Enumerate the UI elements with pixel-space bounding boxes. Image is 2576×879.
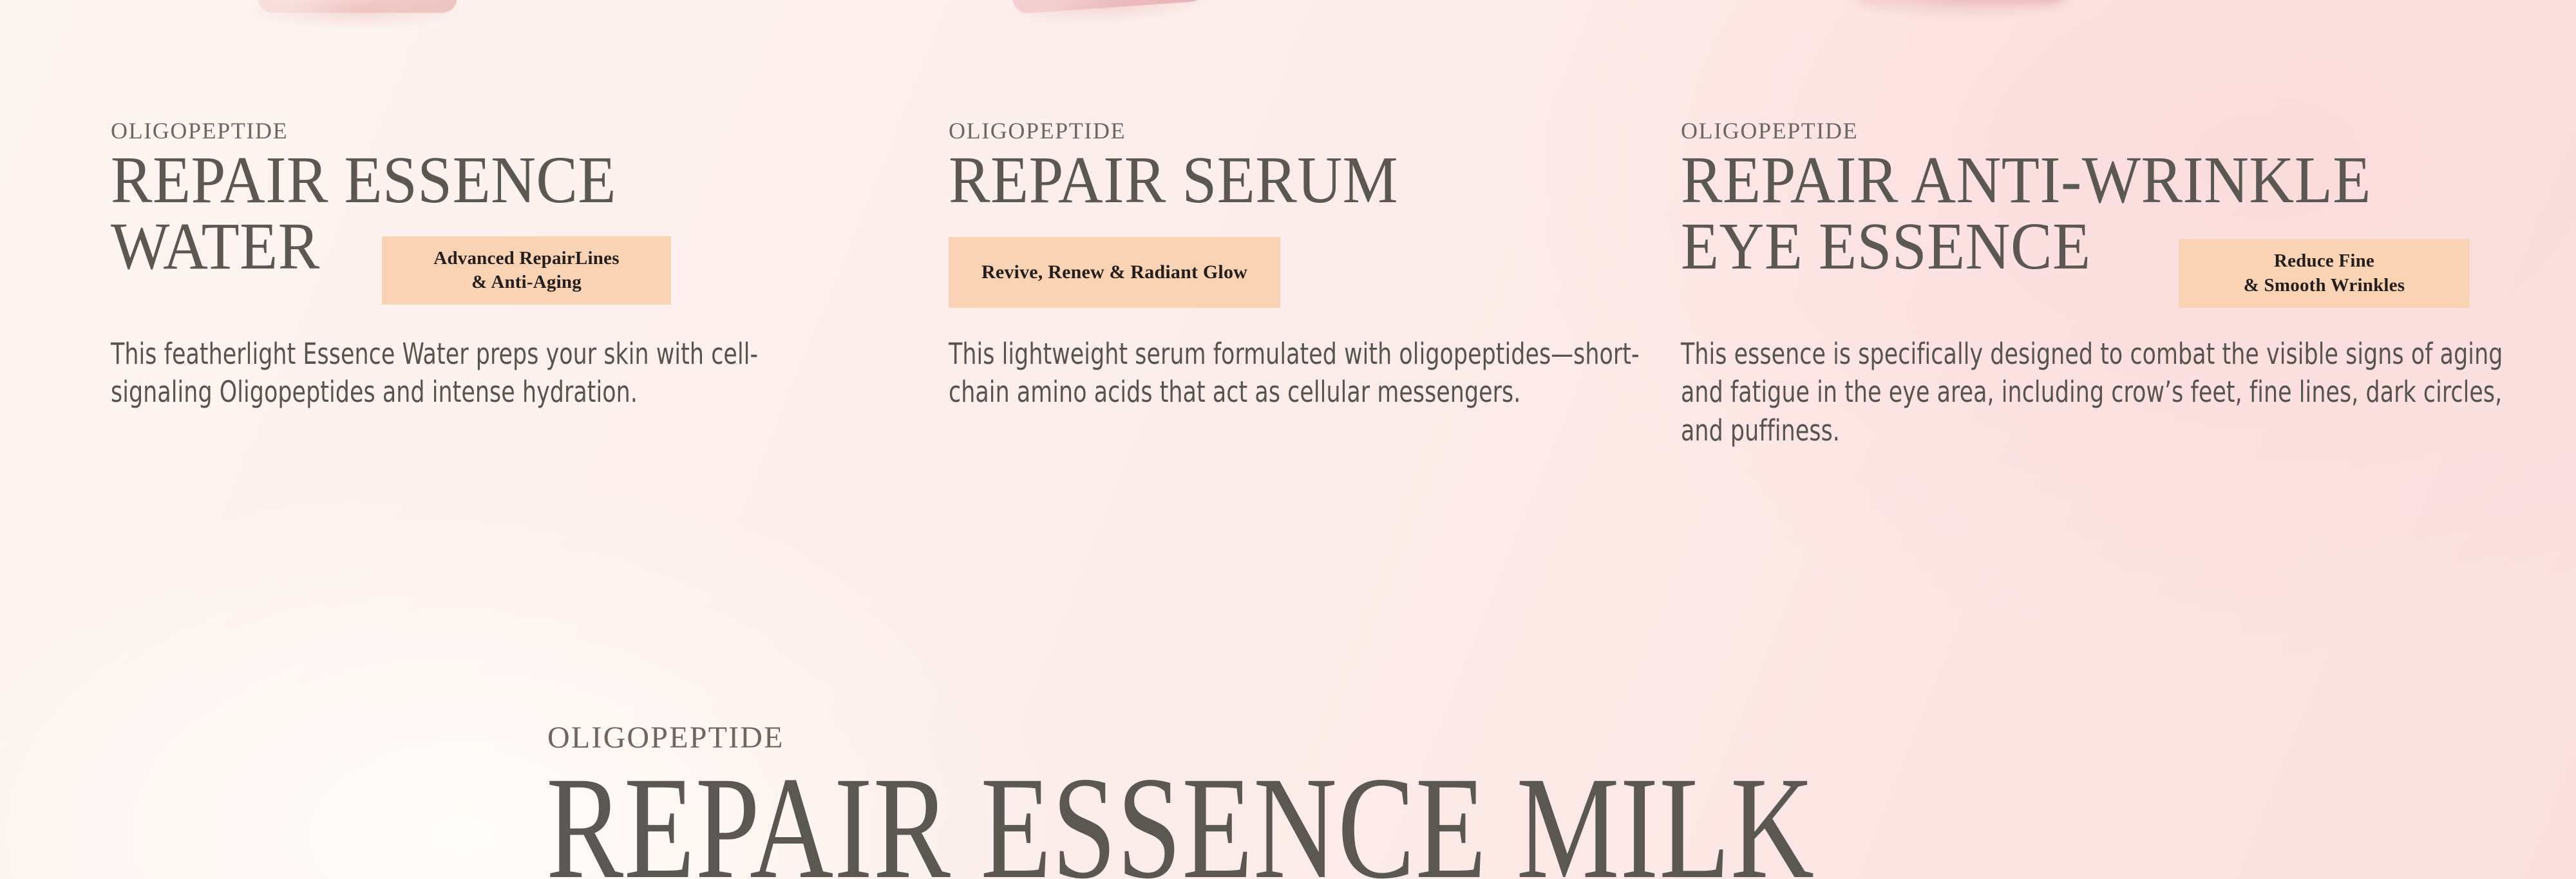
badge-line-2: & Anti-Aging <box>471 270 582 294</box>
badge-line-2: & Smooth Wrinkles <box>2244 274 2405 298</box>
product-title-line-1: REPAIR ANTI-WRINKLE <box>1681 147 2459 214</box>
product-badge-repair-essence-water[interactable]: Advanced RepairLines & Anti-Aging <box>382 236 671 305</box>
product-description-repair-essence-water: This featherlight Essence Water preps yo… <box>111 335 775 411</box>
product-title: REPAIR SERUM <box>949 147 1657 214</box>
product-eyebrow: OLIGOPEPTIDE <box>111 119 871 142</box>
badge-line-1: Revive, Renew & Radiant Glow <box>981 260 1247 285</box>
product-column-list: OLIGOPEPTIDE REPAIR ESSENCE WATER Advanc… <box>0 0 2576 580</box>
product-badge-eye-essence[interactable]: Reduce Fine & Smooth Wrinkles <box>2179 239 2470 308</box>
product-showcase-page: OLIGOPEPTIDE REPAIR ESSENCE WATER Advanc… <box>0 0 2576 879</box>
product-title-line-1: REPAIR ESSENCE <box>111 147 817 214</box>
product-description-repair-serum: This lightweight serum formulated with o… <box>949 335 1680 411</box>
product-card-repair-serum[interactable]: OLIGOPEPTIDE REPAIR SERUM <box>949 119 1657 214</box>
product-description-eye-essence: This essence is specifically designed to… <box>1681 335 2545 449</box>
product-badge-repair-serum[interactable]: Revive, Renew & Radiant Glow <box>949 237 1280 308</box>
product-eyebrow: OLIGOPEPTIDE <box>949 119 1657 142</box>
feature-title: REPAIR ESSENCE MILK <box>546 761 1815 879</box>
feature-product-repair-essence-milk[interactable]: OLIGOPEPTIDE REPAIR ESSENCE MILK <box>546 723 2152 879</box>
badge-line-1: Advanced RepairLines <box>433 247 619 270</box>
product-title-line-1: REPAIR SERUM <box>949 147 1607 214</box>
product-eyebrow: OLIGOPEPTIDE <box>1681 119 2518 142</box>
badge-line-1: Reduce Fine <box>2274 249 2374 273</box>
